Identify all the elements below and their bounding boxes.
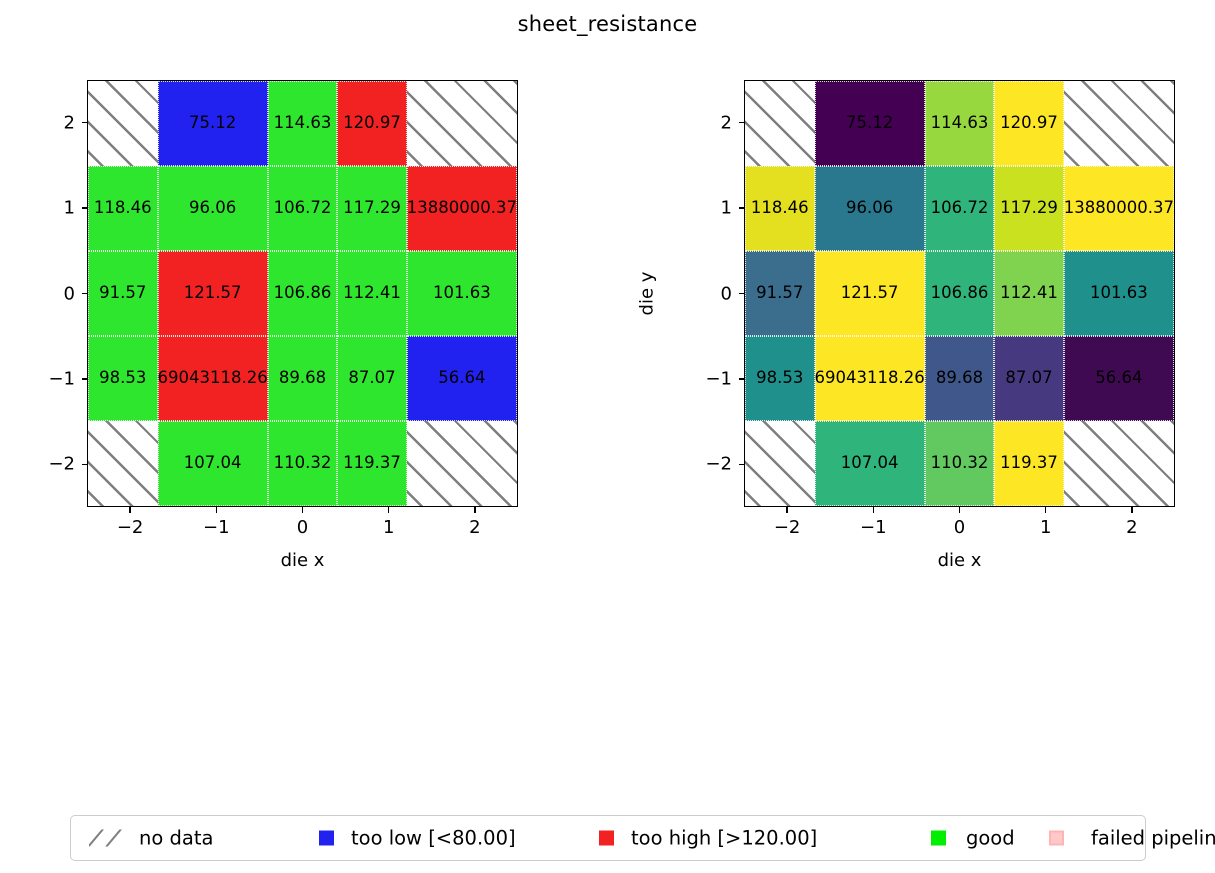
heatmap-cell[interactable]: 110.32 [925, 421, 995, 506]
cell-value: 119.37 [1000, 455, 1058, 472]
cell-value: 96.06 [846, 200, 893, 217]
x-tick [873, 507, 875, 513]
y-tick-label: 2 [27, 112, 75, 133]
cell-value: 98.53 [756, 370, 803, 387]
cell-value: 106.72 [931, 200, 989, 217]
cell-value: 107.04 [184, 455, 242, 472]
y-tick-label: 0 [684, 283, 732, 304]
heatmap-cell[interactable]: 114.63 [925, 81, 995, 166]
heatmap-cell[interactable]: 117.29 [337, 166, 407, 251]
cell-value: 96.06 [189, 200, 236, 217]
heatmap-cell[interactable]: 98.53 [88, 336, 158, 421]
y-tick-label: 0 [27, 283, 75, 304]
cell-value: 119.37 [343, 455, 401, 472]
y-tick [739, 207, 745, 209]
y-tick [82, 293, 88, 295]
heatmap-cell[interactable]: 121.57 [815, 251, 925, 336]
legend-item[interactable] [599, 831, 614, 846]
y-tick [739, 464, 745, 466]
legend-item-label: failed pipeline [1091, 827, 1215, 850]
heatmap-cell[interactable]: 96.06 [158, 166, 268, 251]
legend-item[interactable] [1049, 831, 1064, 846]
legend-item[interactable] [319, 831, 334, 846]
heatmap-cell[interactable]: 69043118.26 [158, 336, 268, 421]
cell-value: 89.68 [936, 370, 983, 387]
y-tick-label: −2 [684, 454, 732, 475]
figure-title: sheet_resistance [0, 12, 1215, 36]
cell-value: 91.57 [99, 285, 146, 302]
cell-value: 120.97 [343, 115, 401, 132]
failed-pipeline-swatch-icon [1049, 831, 1064, 846]
heatmap-cell[interactable]: 107.04 [158, 421, 268, 506]
cell-value: 106.72 [274, 200, 332, 217]
legend-color-swatch-icon [599, 831, 614, 846]
y-tick [82, 207, 88, 209]
heatmap-cell[interactable]: 112.41 [337, 251, 407, 336]
cell-value: 98.53 [99, 370, 146, 387]
heatmap-cell[interactable]: 121.57 [158, 251, 268, 336]
legend-item-label: good [966, 827, 1015, 850]
heatmap-cell[interactable]: 69043118.26 [815, 336, 925, 421]
cell-value: 101.63 [1090, 285, 1148, 302]
cell-value: 117.29 [1000, 200, 1058, 217]
cell-value: 110.32 [274, 455, 332, 472]
heatmap-cell[interactable]: 107.04 [815, 421, 925, 506]
heatmap-cell[interactable]: 101.63 [1064, 251, 1174, 336]
cell-value: 106.86 [931, 285, 989, 302]
heatmap-cell[interactable]: 118.46 [88, 166, 158, 251]
heatmap-cell[interactable]: 91.57 [88, 251, 158, 336]
x-tick [786, 507, 788, 513]
heatmap-grid-viridis: 75.12114.63120.97118.4696.06106.72117.29… [745, 81, 1174, 506]
heatmap-cell[interactable] [88, 421, 158, 506]
heatmap-cell[interactable]: 106.86 [268, 251, 338, 336]
heatmap-cell[interactable]: 119.37 [994, 421, 1064, 506]
heatmap-cell[interactable]: 75.12 [815, 81, 925, 166]
heatmap-cell[interactable]: 56.64 [1064, 336, 1174, 421]
x-tick [302, 507, 304, 513]
heatmap-cell[interactable]: 75.12 [158, 81, 268, 166]
heatmap-cell[interactable] [745, 81, 815, 166]
heatmap-cell[interactable]: 118.46 [745, 166, 815, 251]
cell-value: 87.07 [1005, 370, 1052, 387]
y-tick [739, 122, 745, 124]
legend-color-swatch-icon [931, 831, 946, 846]
x-tick-label: −2 [117, 517, 144, 538]
x-tick-label: −1 [860, 517, 887, 538]
legend: no datatoo low [<80.00]too high [>120.00… [70, 815, 1146, 861]
cell-value: 101.63 [433, 285, 491, 302]
x-tick-label: 0 [297, 517, 308, 538]
heatmap-cell[interactable]: 89.68 [268, 336, 338, 421]
cell-value: 75.12 [189, 115, 236, 132]
y-axis-label: die y [637, 233, 658, 353]
x-tick-label: 2 [469, 517, 480, 538]
heatmap-cell[interactable]: 13880000.37 [407, 166, 517, 251]
heatmap-cell[interactable] [407, 421, 517, 506]
y-tick-label: −2 [27, 454, 75, 475]
x-tick-label: 0 [954, 517, 965, 538]
y-tick-label: −1 [684, 368, 732, 389]
y-axis-label: die y [0, 233, 1, 353]
cell-value: 69043118.26 [815, 370, 925, 387]
heatmap-cell[interactable] [1064, 81, 1174, 166]
y-tick-label: −1 [27, 368, 75, 389]
y-tick [82, 122, 88, 124]
cell-value: 114.63 [274, 115, 332, 132]
heatmap-cell[interactable]: 117.29 [994, 166, 1064, 251]
cell-value: 13880000.37 [407, 200, 517, 217]
x-axis-label: die x [744, 550, 1175, 571]
y-tick [739, 378, 745, 380]
heatmap-cell[interactable]: 98.53 [745, 336, 815, 421]
wafermap-panel-status: 75.12114.63120.97118.4696.06106.72117.29… [87, 80, 518, 507]
cell-value: 69043118.26 [158, 370, 268, 387]
legend-item-label: too high [>120.00] [631, 827, 817, 850]
x-axis-label: die x [87, 550, 518, 571]
heatmap-cell[interactable] [1064, 421, 1174, 506]
heatmap-cell[interactable] [407, 81, 517, 166]
cell-value: 118.46 [94, 200, 152, 217]
plot-area-viridis[interactable]: 75.12114.63120.97118.4696.06106.72117.29… [744, 80, 1175, 507]
cell-value: 75.12 [846, 115, 893, 132]
cell-value: 120.97 [1000, 115, 1058, 132]
heatmap-cell[interactable]: 119.37 [337, 421, 407, 506]
heatmap-cell[interactable]: 106.86 [925, 251, 995, 336]
cell-value: 112.41 [1000, 285, 1058, 302]
heatmap-cell[interactable]: 101.63 [407, 251, 517, 336]
legend-color-swatch-icon [319, 831, 334, 846]
cell-value: 91.57 [756, 285, 803, 302]
cell-value: 13880000.37 [1064, 200, 1174, 217]
cell-value: 87.07 [348, 370, 395, 387]
heatmap-cell[interactable]: 112.41 [994, 251, 1064, 336]
x-tick-label: 1 [1040, 517, 1051, 538]
legend-item-label: no data [139, 827, 213, 850]
legend-item-label: too low [<80.00] [351, 827, 516, 850]
cell-value: 114.63 [931, 115, 989, 132]
x-tick-label: 1 [383, 517, 394, 538]
y-tick [739, 293, 745, 295]
cell-value: 106.86 [274, 285, 332, 302]
y-tick-label: 1 [684, 198, 732, 219]
no-data-hatch-icon [89, 830, 129, 847]
heatmap-cell[interactable] [88, 81, 158, 166]
heatmap-cell[interactable]: 87.07 [337, 336, 407, 421]
x-tick [474, 507, 476, 513]
y-tick [82, 464, 88, 466]
x-tick [129, 507, 131, 513]
heatmap-cell[interactable]: 120.97 [337, 81, 407, 166]
heatmap-cell[interactable]: 13880000.37 [1064, 166, 1174, 251]
x-tick [959, 507, 961, 513]
heatmap-cell[interactable]: 96.06 [815, 166, 925, 251]
heatmap-cell[interactable] [745, 421, 815, 506]
cell-value: 110.32 [931, 455, 989, 472]
x-tick-label: −1 [203, 517, 230, 538]
heatmap-cell[interactable]: 110.32 [268, 421, 338, 506]
heatmap-cell[interactable]: 106.72 [925, 166, 995, 251]
cell-value: 121.57 [184, 285, 242, 302]
wafermap-panel-viridis: 75.12114.63120.97118.4696.06106.72117.29… [744, 80, 1175, 507]
x-tick [216, 507, 218, 513]
heatmap-cell[interactable]: 120.97 [994, 81, 1064, 166]
cell-value: 121.57 [841, 285, 899, 302]
cell-value: 89.68 [279, 370, 326, 387]
heatmap-cell[interactable]: 89.68 [925, 336, 995, 421]
heatmap-cell[interactable]: 87.07 [994, 336, 1064, 421]
cell-value: 107.04 [841, 455, 899, 472]
cell-value: 56.64 [438, 370, 485, 387]
y-tick-label: 2 [684, 112, 732, 133]
heatmap-cell[interactable]: 56.64 [407, 336, 517, 421]
heatmap-cell[interactable]: 91.57 [745, 251, 815, 336]
x-tick-label: −2 [774, 517, 801, 538]
heatmap-cell[interactable]: 114.63 [268, 81, 338, 166]
cell-value: 118.46 [751, 200, 809, 217]
heatmap-cell[interactable]: 106.72 [268, 166, 338, 251]
x-tick-label: 2 [1126, 517, 1137, 538]
legend-item[interactable] [89, 830, 129, 847]
cell-value: 117.29 [343, 200, 401, 217]
y-tick [82, 378, 88, 380]
x-tick [1045, 507, 1047, 513]
plot-area-status[interactable]: 75.12114.63120.97118.4696.06106.72117.29… [87, 80, 518, 507]
legend-item[interactable] [931, 831, 946, 846]
cell-value: 112.41 [343, 285, 401, 302]
heatmap-grid-status: 75.12114.63120.97118.4696.06106.72117.29… [88, 81, 517, 506]
cell-value: 56.64 [1095, 370, 1142, 387]
x-tick [1131, 507, 1133, 513]
x-tick [388, 507, 390, 513]
y-tick-label: 1 [27, 198, 75, 219]
